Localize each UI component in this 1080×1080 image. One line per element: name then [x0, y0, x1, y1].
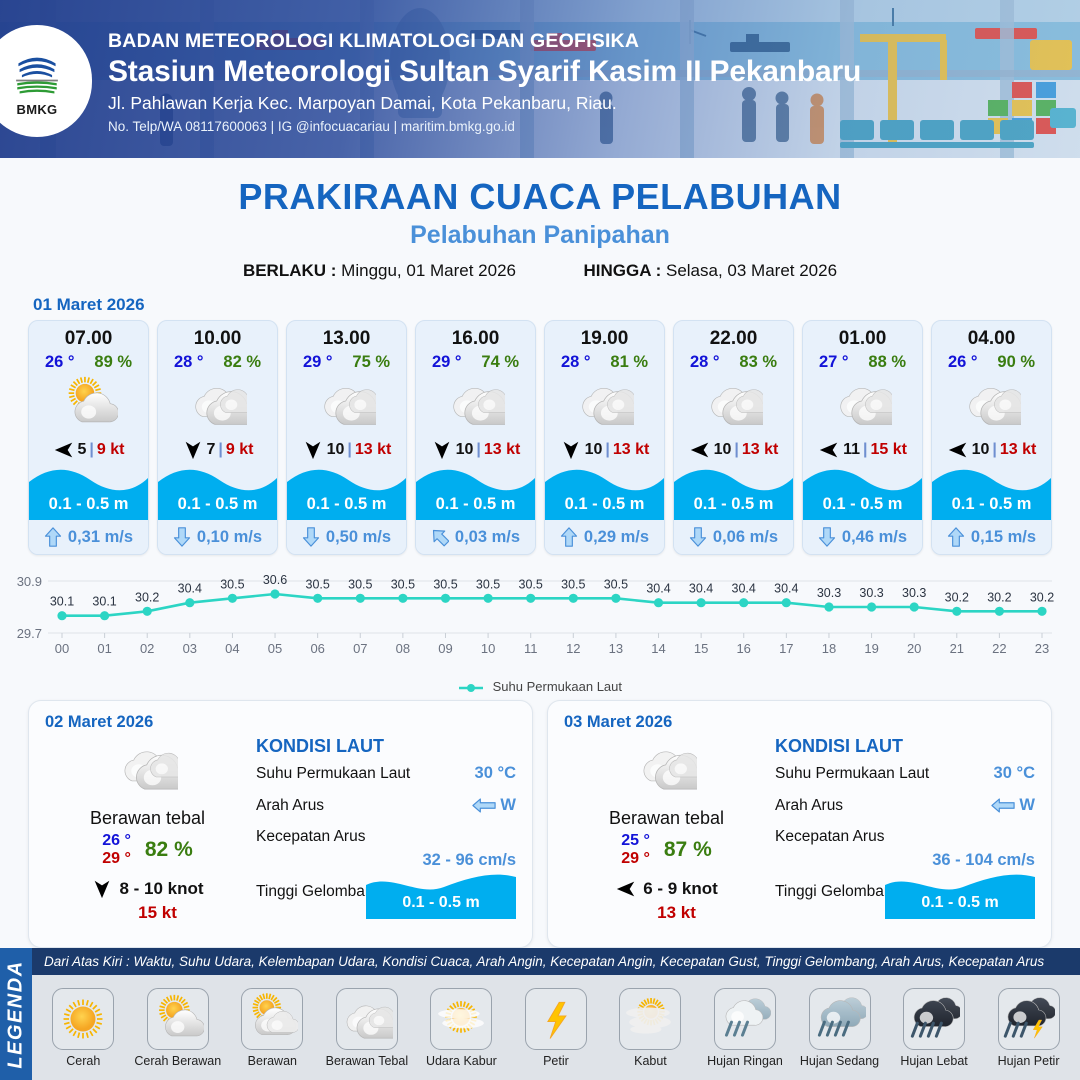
valid-from-label: BERLAKU :: [243, 261, 337, 280]
card-wind-degree: 10: [585, 441, 603, 459]
current-direction-west-icon: [991, 797, 1015, 814]
summary-gust: 15 kt: [65, 903, 250, 923]
svg-text:30.4: 30.4: [689, 582, 713, 596]
legend-item: Kabut: [604, 988, 696, 1068]
sst-label: Suhu Permukaan Laut: [256, 765, 410, 783]
card-time: 22.00: [674, 321, 793, 350]
svg-text:30.5: 30.5: [561, 577, 585, 591]
wind-direction-icon: [302, 439, 324, 461]
card-humidity: 82 %: [223, 353, 261, 372]
station-contact: No. Telp/WA 08117600063 | IG @infocuacar…: [108, 119, 861, 134]
current-direction-icon: [44, 527, 62, 547]
legend-icon-hujan-lebat: [903, 988, 965, 1050]
card-current-speed: 0,15 m/s: [971, 528, 1036, 547]
card-wind-degree: 7: [207, 441, 216, 459]
card-wave: 0.1 - 0.5 m: [674, 464, 793, 520]
legend-item-label: Berawan: [248, 1054, 297, 1068]
svg-text:18: 18: [822, 641, 836, 656]
card-humidity: 89 %: [94, 353, 132, 372]
svg-text:10: 10: [481, 641, 495, 656]
svg-text:01: 01: [97, 641, 111, 656]
sst-value: 30 °C: [475, 764, 516, 783]
card-humidity: 90 %: [997, 353, 1035, 372]
legend-note: Dari Atas Kiri : Waktu, Suhu Udara, Kele…: [32, 948, 1080, 975]
card-current: 0,29 m/s: [545, 520, 664, 554]
legend-item: Petir: [510, 988, 602, 1068]
forecast-day-label: 01 Maret 2026: [33, 295, 1080, 315]
card-weather-icon: [158, 372, 277, 434]
current-direction-icon: [560, 527, 578, 547]
summary-wave: 0.1 - 0.5 m: [366, 871, 516, 919]
legend-item: Berawan Tebal: [321, 988, 413, 1068]
svg-text:05: 05: [268, 641, 282, 656]
svg-text:30.2: 30.2: [135, 590, 159, 604]
legend-item: Cerah Berawan: [132, 988, 224, 1068]
card-wave: 0.1 - 0.5 m: [158, 464, 277, 520]
port-name: Pelabuhan Panipahan: [0, 221, 1080, 250]
card-time: 19.00: [545, 321, 664, 350]
card-wind-degree: 11: [843, 441, 860, 459]
svg-text:14: 14: [651, 641, 665, 656]
summary-wind-range: 8 - 10 knot: [119, 879, 203, 899]
legend-icon-berawan: [241, 988, 303, 1050]
card-temperature: 28 °: [690, 353, 720, 372]
svg-text:15: 15: [694, 641, 708, 656]
forecast-card: 10.00 28 ° 82 % 7 | 9 kt 0.1 - 0.5 m 0,1…: [157, 320, 278, 555]
summary-temp-min: 25 °: [621, 832, 650, 850]
chart-legend-label: Suhu Permukaan Laut: [493, 679, 622, 694]
summary-temp-min: 26 °: [102, 832, 131, 850]
card-wind: 10 | 13 kt: [545, 434, 664, 464]
summary-gust: 13 kt: [584, 903, 769, 923]
card-wind: 5 | 9 kt: [29, 434, 148, 464]
card-current: 0,15 m/s: [932, 520, 1051, 554]
legend-item: Hujan Ringan: [699, 988, 791, 1068]
svg-text:23: 23: [1035, 641, 1049, 656]
legend-item: Udara Kabur: [415, 988, 507, 1068]
legend-icon-cerah: [52, 988, 114, 1050]
current-direction-value: W: [1019, 796, 1035, 815]
svg-text:19: 19: [864, 641, 878, 656]
legend-item-label: Hujan Petir: [998, 1054, 1060, 1068]
current-direction-label: Arah Arus: [256, 797, 324, 815]
svg-text:30.3: 30.3: [817, 586, 841, 600]
card-humidity: 88 %: [868, 353, 906, 372]
legend-item-row: Cerah Cerah Berawan Berawan Berawan Teba…: [32, 975, 1080, 1080]
card-wind-speed: 15 kt: [870, 441, 906, 459]
summary-date: 03 Maret 2026: [564, 713, 1035, 732]
forecast-card: 01.00 27 ° 88 % 11 | 15 kt 0.1 - 0.5 m 0…: [802, 320, 923, 555]
chart-legend-swatch: [458, 682, 484, 694]
card-wave-height: 0.1 - 0.5 m: [674, 495, 793, 514]
card-temperature: 26 °: [948, 353, 978, 372]
svg-text:02: 02: [140, 641, 154, 656]
legend-section: LEGENDA Dari Atas Kiri : Waktu, Suhu Uda…: [0, 948, 1080, 1080]
legend-icon-hujan-sedang: [809, 988, 871, 1050]
svg-text:30.2: 30.2: [987, 590, 1011, 604]
card-wind-degree: 10: [972, 441, 990, 459]
card-wave-height: 0.1 - 0.5 m: [803, 495, 922, 514]
svg-text:30.5: 30.5: [391, 577, 415, 591]
card-wind-degree: 10: [714, 441, 732, 459]
svg-text:30.2: 30.2: [945, 590, 969, 604]
card-wind: 7 | 9 kt: [158, 434, 277, 464]
card-wave-height: 0.1 - 0.5 m: [29, 495, 148, 514]
card-temperature: 29 °: [432, 353, 462, 372]
card-current: 0,10 m/s: [158, 520, 277, 554]
card-wind: 11 | 15 kt: [803, 434, 922, 464]
wind-direction-icon: [947, 439, 969, 461]
card-wind-speed: 13 kt: [484, 441, 520, 459]
svg-text:30.5: 30.5: [433, 577, 457, 591]
summary-wind: 8 - 10 knot: [45, 878, 250, 900]
legend-item: Cerah: [37, 988, 129, 1068]
card-weather-icon: [287, 372, 406, 434]
wave-height-label: Tinggi Gelombang: [775, 883, 901, 901]
card-time: 07.00: [29, 321, 148, 350]
svg-text:08: 08: [396, 641, 410, 656]
card-weather-icon: [932, 372, 1051, 434]
page-title: PRAKIRAAN CUACA PELABUHAN: [0, 176, 1080, 218]
current-direction-label: Arah Arus: [775, 797, 843, 815]
card-wind-speed: 9 kt: [97, 441, 125, 459]
svg-text:30.5: 30.5: [220, 577, 244, 591]
summary-date: 02 Maret 2026: [45, 713, 516, 732]
legend-icon-kabut: [619, 988, 681, 1050]
card-temperature: 28 °: [174, 353, 204, 372]
legend-item: Hujan Petir: [983, 988, 1075, 1068]
valid-until-value: Selasa, 03 Maret 2026: [666, 261, 837, 280]
card-time: 04.00: [932, 321, 1051, 350]
wind-direction-icon: [560, 439, 582, 461]
forecast-card: 16.00 29 ° 74 % 10 | 13 kt 0.1 - 0.5 m 0…: [415, 320, 536, 555]
card-weather-icon: [545, 372, 664, 434]
title-block: PRAKIRAAN CUACA PELABUHAN Pelabuhan Pani…: [0, 176, 1080, 281]
svg-text:30.5: 30.5: [519, 577, 543, 591]
legend-item-label: Udara Kabur: [426, 1054, 497, 1068]
sst-chart-svg: 30.929.730.10030.10130.20230.40330.50430…: [0, 567, 1080, 672]
current-direction-icon: [689, 527, 707, 547]
forecast-card-row: 07.00 26 ° 89 % 5 | 9 kt 0.1 - 0.5 m 0,3…: [0, 320, 1080, 555]
daily-summary-card: 02 Maret 2026 Berawan tebal 26 ° 29 ° 82…: [28, 700, 533, 948]
card-wind: 10 | 13 kt: [674, 434, 793, 464]
forecast-card: 04.00 26 ° 90 % 10 | 13 kt 0.1 - 0.5 m 0…: [931, 320, 1052, 555]
card-wave: 0.1 - 0.5 m: [803, 464, 922, 520]
card-wind-degree: 5: [78, 441, 87, 459]
forecast-card: 22.00 28 ° 83 % 10 | 13 kt 0.1 - 0.5 m 0…: [673, 320, 794, 555]
sst-label: Suhu Permukaan Laut: [775, 765, 929, 783]
summary-humidity: 87 %: [664, 838, 712, 862]
svg-text:21: 21: [950, 641, 964, 656]
legend-icon-cerah-berawan: [147, 988, 209, 1050]
card-wave-height: 0.1 - 0.5 m: [158, 495, 277, 514]
station-name: Stasiun Meteorologi Sultan Syarif Kasim …: [108, 55, 861, 89]
current-direction-icon: [302, 527, 320, 547]
svg-text:13: 13: [609, 641, 623, 656]
agency-name: BADAN METEOROLOGI KLIMATOLOGI DAN GEOFIS…: [108, 30, 861, 53]
daily-summary-card: 03 Maret 2026 Berawan tebal 25 ° 29 ° 87…: [547, 700, 1052, 948]
summary-wave: 0.1 - 0.5 m: [885, 871, 1035, 919]
summary-weather-icon: [564, 736, 769, 798]
legend-item-label: Kabut: [634, 1054, 667, 1068]
current-speed-value: 32 - 96 cm/s: [422, 851, 516, 870]
card-wave: 0.1 - 0.5 m: [29, 464, 148, 520]
svg-text:29.7: 29.7: [17, 626, 42, 641]
svg-text:30.3: 30.3: [902, 586, 926, 600]
sst-value: 30 °C: [994, 764, 1035, 783]
wind-direction-icon: [689, 439, 711, 461]
card-wind: 10 | 13 kt: [416, 434, 535, 464]
card-weather-icon: [29, 372, 148, 434]
legend-item-label: Petir: [543, 1054, 569, 1068]
card-wind: 10 | 13 kt: [932, 434, 1051, 464]
current-direction-west-icon: [472, 797, 496, 814]
summary-condition: Berawan tebal: [45, 808, 250, 829]
sea-condition-heading: KONDISI LAUT: [256, 736, 516, 757]
current-direction-icon: [173, 527, 191, 547]
card-humidity: 83 %: [739, 353, 777, 372]
page-header: BMKG BADAN METEOROLOGI KLIMATOLOGI DAN G…: [0, 0, 1080, 158]
card-humidity: 74 %: [481, 353, 519, 372]
card-current-speed: 0,31 m/s: [68, 528, 133, 547]
legend-item-label: Hujan Lebat: [900, 1054, 967, 1068]
current-speed-value: 36 - 104 cm/s: [932, 851, 1035, 870]
svg-text:07: 07: [353, 641, 367, 656]
legend-item-label: Cerah: [66, 1054, 100, 1068]
wind-direction-icon: [818, 439, 840, 461]
svg-text:12: 12: [566, 641, 580, 656]
wave-height-label: Tinggi Gelombang: [256, 883, 382, 901]
current-speed-label: Kecepatan Arus: [775, 828, 884, 846]
card-wave: 0.1 - 0.5 m: [287, 464, 406, 520]
wind-direction-icon: [615, 878, 637, 900]
card-current: 0,06 m/s: [674, 520, 793, 554]
svg-text:20: 20: [907, 641, 921, 656]
svg-text:03: 03: [183, 641, 197, 656]
card-wave-height: 0.1 - 0.5 m: [416, 495, 535, 514]
card-time: 16.00: [416, 321, 535, 350]
card-current-speed: 0,46 m/s: [842, 528, 907, 547]
card-weather-icon: [416, 372, 535, 434]
forecast-card: 13.00 29 ° 75 % 10 | 13 kt 0.1 - 0.5 m 0…: [286, 320, 407, 555]
svg-text:30.3: 30.3: [859, 586, 883, 600]
svg-text:17: 17: [779, 641, 793, 656]
summary-weather-icon: [45, 736, 250, 798]
card-time: 10.00: [158, 321, 277, 350]
station-address: Jl. Pahlawan Kerja Kec. Marpoyan Damai, …: [108, 93, 861, 114]
wind-direction-icon: [431, 439, 453, 461]
card-weather-icon: [803, 372, 922, 434]
sst-chart: 30.929.730.10030.10130.20230.40330.50430…: [0, 567, 1080, 677]
svg-text:30.4: 30.4: [774, 582, 798, 596]
card-temperature: 29 °: [303, 353, 333, 372]
svg-text:30.1: 30.1: [50, 595, 74, 609]
card-current: 0,50 m/s: [287, 520, 406, 554]
wind-direction-icon: [182, 439, 204, 461]
svg-text:00: 00: [55, 641, 69, 656]
current-direction-value: W: [500, 796, 516, 815]
svg-text:30.4: 30.4: [178, 582, 202, 596]
summary-wind: 6 - 9 knot: [564, 878, 769, 900]
legend-icon-udara-kabur: [430, 988, 492, 1050]
card-time: 01.00: [803, 321, 922, 350]
legend-item-label: Hujan Sedang: [800, 1054, 879, 1068]
card-current-speed: 0,03 m/s: [455, 528, 520, 547]
legend-item-label: Berawan Tebal: [326, 1054, 408, 1068]
svg-text:06: 06: [310, 641, 324, 656]
svg-text:30.1: 30.1: [92, 595, 116, 609]
sea-condition-heading: KONDISI LAUT: [775, 736, 1035, 757]
card-temperature: 26 °: [45, 353, 75, 372]
bmkg-logo-text: BMKG: [17, 102, 58, 117]
forecast-card: 07.00 26 ° 89 % 5 | 9 kt 0.1 - 0.5 m 0,3…: [28, 320, 149, 555]
svg-text:30.4: 30.4: [646, 582, 670, 596]
legend-icon-berawan-tebal: [336, 988, 398, 1050]
summary-temp-max: 29 °: [621, 850, 650, 868]
legend-main: Dari Atas Kiri : Waktu, Suhu Udara, Kele…: [32, 948, 1080, 1080]
card-wind-speed: 9 kt: [226, 441, 254, 459]
card-wave-height: 0.1 - 0.5 m: [287, 495, 406, 514]
card-humidity: 81 %: [610, 353, 648, 372]
card-current: 0,46 m/s: [803, 520, 922, 554]
card-wave: 0.1 - 0.5 m: [932, 464, 1051, 520]
card-wind: 10 | 13 kt: [287, 434, 406, 464]
card-wind-speed: 13 kt: [613, 441, 649, 459]
valid-from-value: Minggu, 01 Maret 2026: [341, 261, 516, 280]
svg-text:30.9: 30.9: [17, 574, 42, 589]
card-current-speed: 0,29 m/s: [584, 528, 649, 547]
current-direction-icon: [947, 527, 965, 547]
legend-item: Berawan: [226, 988, 318, 1068]
valid-until-label: HINGGA :: [583, 261, 661, 280]
card-weather-icon: [674, 372, 793, 434]
validity-range: BERLAKU : Minggu, 01 Maret 2026 HINGGA :…: [0, 261, 1080, 281]
svg-text:04: 04: [225, 641, 239, 656]
summary-wave-height: 0.1 - 0.5 m: [885, 894, 1035, 912]
forecast-card: 19.00 28 ° 81 % 10 | 13 kt 0.1 - 0.5 m 0…: [544, 320, 665, 555]
svg-text:30.5: 30.5: [348, 577, 372, 591]
legend-item-label: Cerah Berawan: [134, 1054, 221, 1068]
svg-text:30.5: 30.5: [604, 577, 628, 591]
card-temperature: 28 °: [561, 353, 591, 372]
card-wind-degree: 10: [327, 441, 345, 459]
card-current-speed: 0,50 m/s: [326, 528, 391, 547]
legend-item: Hujan Sedang: [794, 988, 886, 1068]
wind-direction-icon: [53, 439, 75, 461]
current-direction-icon: [818, 527, 836, 547]
card-wind-speed: 13 kt: [355, 441, 391, 459]
card-wind-degree: 10: [456, 441, 474, 459]
legend-sidebar: LEGENDA: [0, 948, 32, 1080]
wind-direction-icon: [91, 878, 113, 900]
legend-icon-petir: [525, 988, 587, 1050]
svg-text:30.4: 30.4: [732, 582, 756, 596]
svg-text:16: 16: [736, 641, 750, 656]
card-wave: 0.1 - 0.5 m: [416, 464, 535, 520]
card-current-speed: 0,06 m/s: [713, 528, 778, 547]
summary-temp-max: 29 °: [102, 850, 131, 868]
card-wave: 0.1 - 0.5 m: [545, 464, 664, 520]
svg-text:30.2: 30.2: [1030, 590, 1054, 604]
card-wave-height: 0.1 - 0.5 m: [932, 495, 1051, 514]
svg-text:30.5: 30.5: [476, 577, 500, 591]
legend-sidebar-label: LEGENDA: [5, 960, 28, 1068]
card-current: 0,31 m/s: [29, 520, 148, 554]
current-speed-label: Kecepatan Arus: [256, 828, 365, 846]
current-direction-icon: [431, 527, 449, 547]
summary-wave-height: 0.1 - 0.5 m: [366, 894, 516, 912]
legend-item: Hujan Lebat: [888, 988, 980, 1068]
svg-text:09: 09: [438, 641, 452, 656]
card-current: 0,03 m/s: [416, 520, 535, 554]
summary-wind-range: 6 - 9 knot: [643, 879, 718, 899]
card-wave-height: 0.1 - 0.5 m: [545, 495, 664, 514]
card-temperature: 27 °: [819, 353, 849, 372]
card-current-speed: 0,10 m/s: [197, 528, 262, 547]
card-time: 13.00: [287, 321, 406, 350]
card-humidity: 75 %: [352, 353, 390, 372]
legend-icon-hujan-petir: [998, 988, 1060, 1050]
svg-text:30.5: 30.5: [306, 577, 330, 591]
chart-legend: Suhu Permukaan Laut: [0, 679, 1080, 694]
svg-text:22: 22: [992, 641, 1006, 656]
svg-text:11: 11: [524, 641, 538, 656]
header-text-block: BADAN METEOROLOGI KLIMATOLOGI DAN GEOFIS…: [108, 30, 861, 134]
card-wind-speed: 13 kt: [1000, 441, 1036, 459]
summary-humidity: 82 %: [145, 838, 193, 862]
legend-icon-hujan-ringan: [714, 988, 776, 1050]
legend-item-label: Hujan Ringan: [707, 1054, 783, 1068]
daily-summary-row: 02 Maret 2026 Berawan tebal 26 ° 29 ° 82…: [0, 694, 1080, 948]
summary-condition: Berawan tebal: [564, 808, 769, 829]
bmkg-logo-mark: [8, 46, 66, 104]
svg-text:30.6: 30.6: [263, 573, 287, 587]
card-wind-speed: 13 kt: [742, 441, 778, 459]
